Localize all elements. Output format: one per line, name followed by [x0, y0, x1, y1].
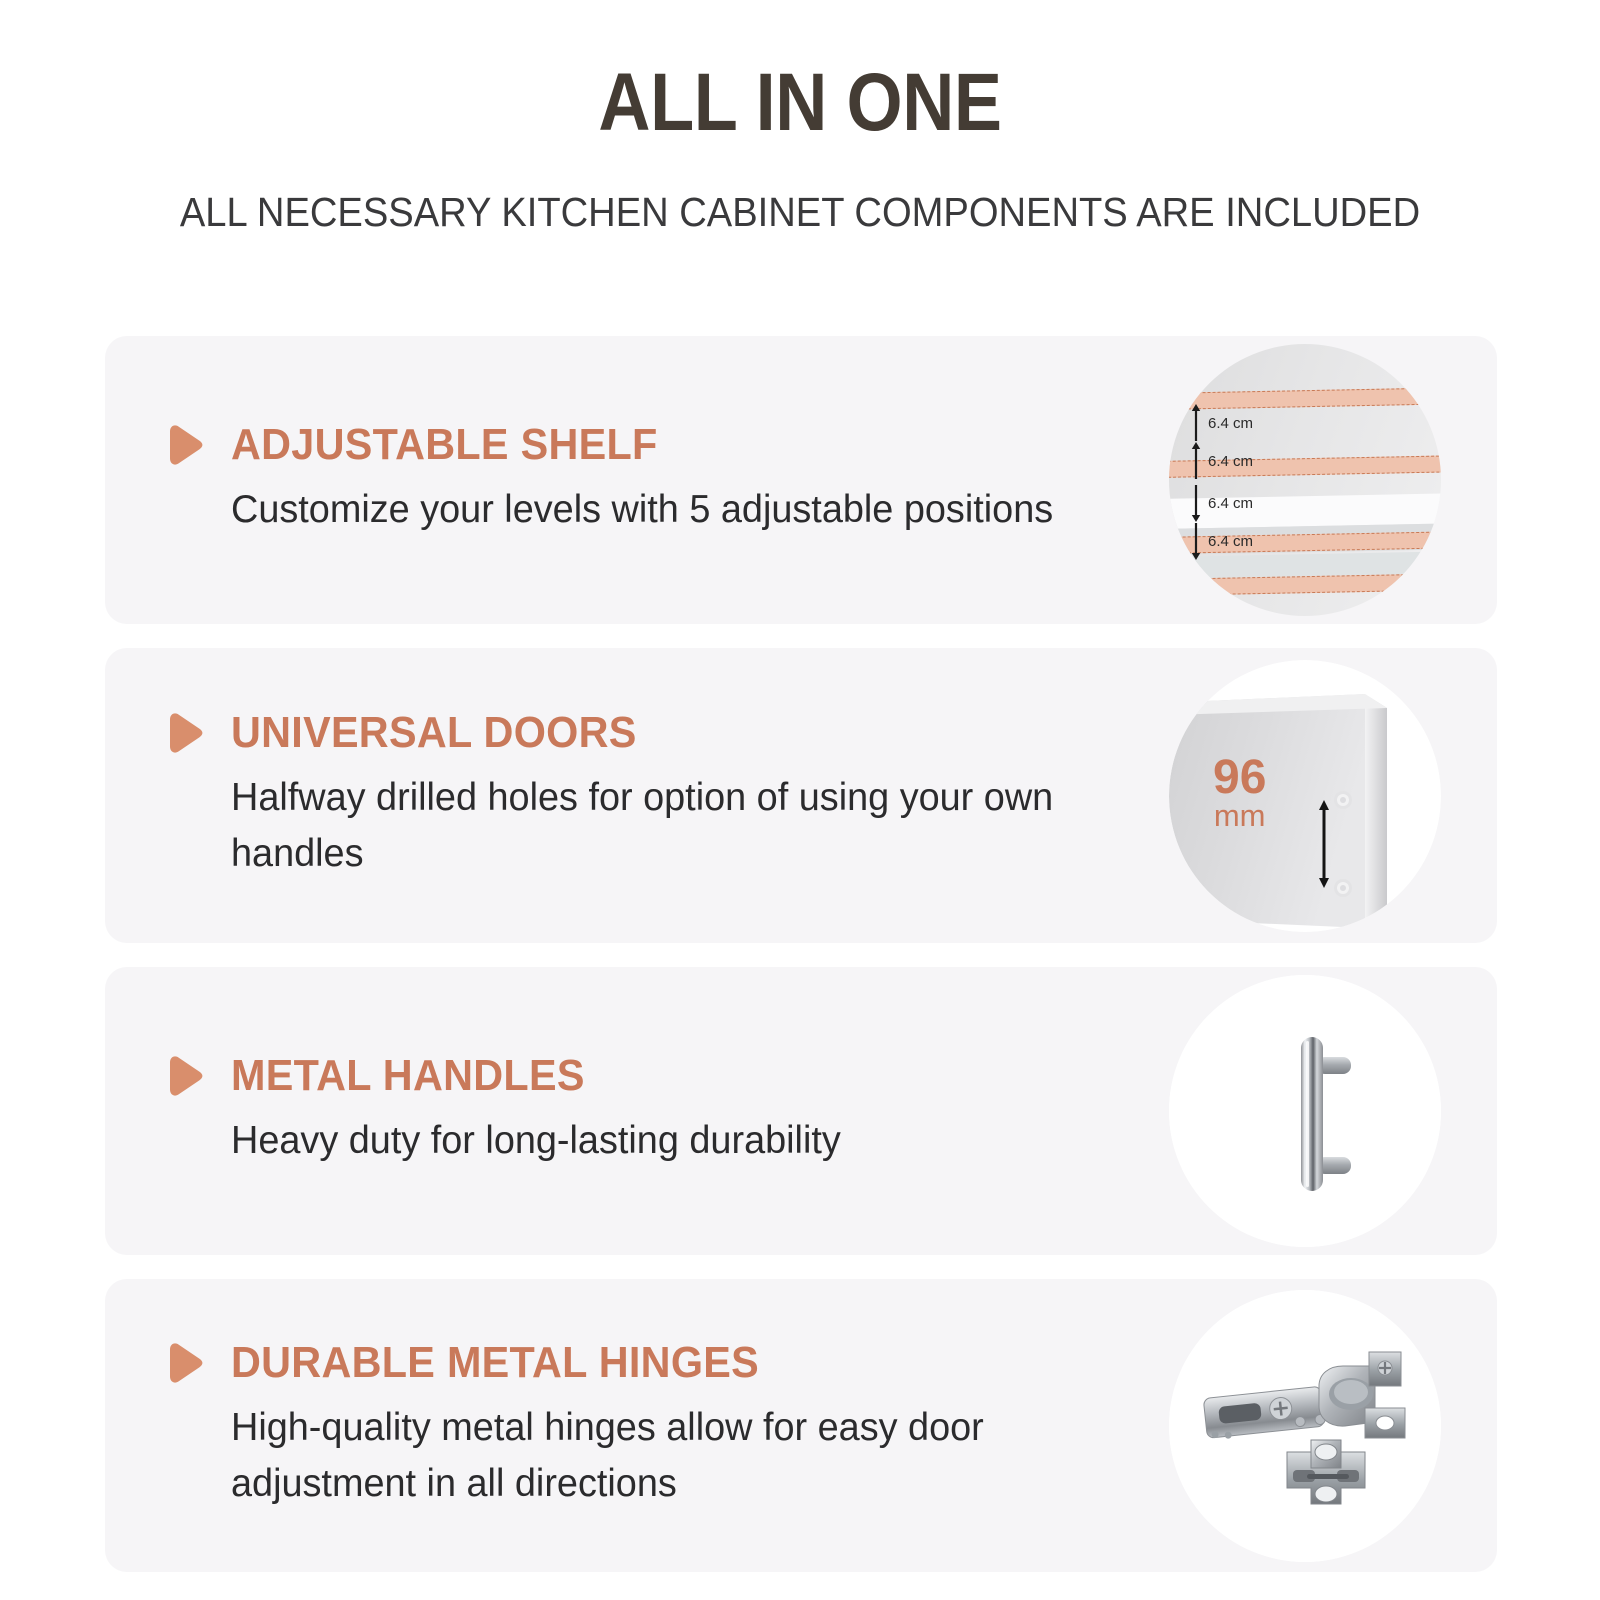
feature-card-text: ADJUSTABLE SHELF Customize your levels w…: [163, 336, 1173, 624]
metal-bar-handle-photo: [1169, 975, 1441, 1247]
feature-card-adjustable-shelf[interactable]: ADJUSTABLE SHELF Customize your levels w…: [105, 336, 1497, 624]
feature-card-text: METAL HANDLES Heavy duty for long-lastin…: [163, 967, 1173, 1255]
feature-card-media: [1097, 1279, 1497, 1572]
page-header: ALL IN ONE ALL NECESSARY KITCHEN CABINET…: [0, 0, 1600, 233]
metal-bar-handle-illustration: [1169, 975, 1441, 1247]
down-arrow-icon: [1191, 522, 1201, 560]
page-title: ALL IN ONE: [96, 62, 1504, 144]
feature-card-title-row: METAL HANDLES: [163, 1053, 1173, 1099]
up-arrow-icon: [1191, 404, 1201, 442]
triangle-right-bullet-icon: [163, 1341, 205, 1385]
feature-card-title: METAL HANDLES: [231, 1053, 585, 1099]
shelf-dimension-label: 6.4 cm: [1208, 453, 1253, 470]
feature-card-title: DURABLE METAL HINGES: [231, 1340, 759, 1386]
feature-card-text: DURABLE METAL HINGES High-quality metal …: [163, 1279, 1173, 1572]
feature-card-text: UNIVERSAL DOORS Halfway drilled holes fo…: [163, 648, 1173, 943]
adjustable-shelf-photo: 6.4 cm 6.4 cm 6.4 cm: [1169, 344, 1441, 616]
cabinet-door-photo: 96 mm: [1169, 660, 1441, 932]
feature-card-title-row: ADJUSTABLE SHELF: [163, 422, 1173, 468]
shelf-dimension-3: 6.4 cm: [1191, 484, 1253, 522]
down-arrow-icon: [1191, 484, 1201, 522]
feature-card-description: Customize your levels with 5 adjustable …: [231, 482, 1123, 537]
feature-card-description: Halfway drilled holes for option of usin…: [231, 770, 1145, 881]
feature-card-media: [1097, 967, 1497, 1255]
cabinet-door-illustration: [1169, 660, 1441, 932]
triangle-right-bullet-icon: [163, 423, 205, 467]
feature-card-universal-doors[interactable]: UNIVERSAL DOORS Halfway drilled holes fo…: [105, 648, 1497, 943]
feature-card-list: ADJUSTABLE SHELF Customize your levels w…: [105, 336, 1497, 1596]
metal-hinge-photo: [1169, 1290, 1441, 1562]
shelf-dimension-1: 6.4 cm: [1191, 404, 1253, 442]
shelf-dimension-label: 6.4 cm: [1208, 415, 1253, 432]
feature-card-title-row: UNIVERSAL DOORS: [163, 710, 1173, 756]
shelf-dimension-4: 6.4 cm: [1191, 522, 1253, 560]
triangle-right-bullet-icon: [163, 1054, 205, 1098]
feature-card-metal-handles[interactable]: METAL HANDLES Heavy duty for long-lastin…: [105, 967, 1497, 1255]
feature-card-title-row: DURABLE METAL HINGES: [163, 1340, 1173, 1386]
up-arrow-icon: [1191, 442, 1201, 480]
door-dimension-label: 96 mm: [1213, 754, 1266, 831]
shelf-dimension-label: 6.4 cm: [1208, 533, 1253, 550]
feature-card-description: High-quality metal hinges allow for easy…: [231, 1400, 1123, 1511]
shelf-dimension-label: 6.4 cm: [1208, 495, 1253, 512]
feature-card-durable-metal-hinges[interactable]: DURABLE METAL HINGES High-quality metal …: [105, 1279, 1497, 1572]
door-dimension-unit: mm: [1213, 801, 1266, 831]
feature-card-description: Heavy duty for long-lasting durability: [231, 1113, 1145, 1168]
page-subtitle: ALL NECESSARY KITCHEN CABINET COMPONENTS…: [56, 192, 1544, 233]
feature-card-title: ADJUSTABLE SHELF: [231, 422, 658, 468]
shelf-dimension-2: 6.4 cm: [1191, 442, 1253, 480]
feature-card-media: 6.4 cm 6.4 cm 6.4 cm: [1097, 336, 1497, 624]
triangle-right-bullet-icon: [163, 711, 205, 755]
feature-card-title: UNIVERSAL DOORS: [231, 710, 637, 756]
feature-card-media: 96 mm: [1097, 648, 1497, 943]
door-dimension-value: 96: [1213, 754, 1266, 801]
metal-hinge-illustration: [1169, 1290, 1441, 1562]
all-in-one-feature-page: ALL IN ONE ALL NECESSARY KITCHEN CABINET…: [0, 0, 1600, 1600]
